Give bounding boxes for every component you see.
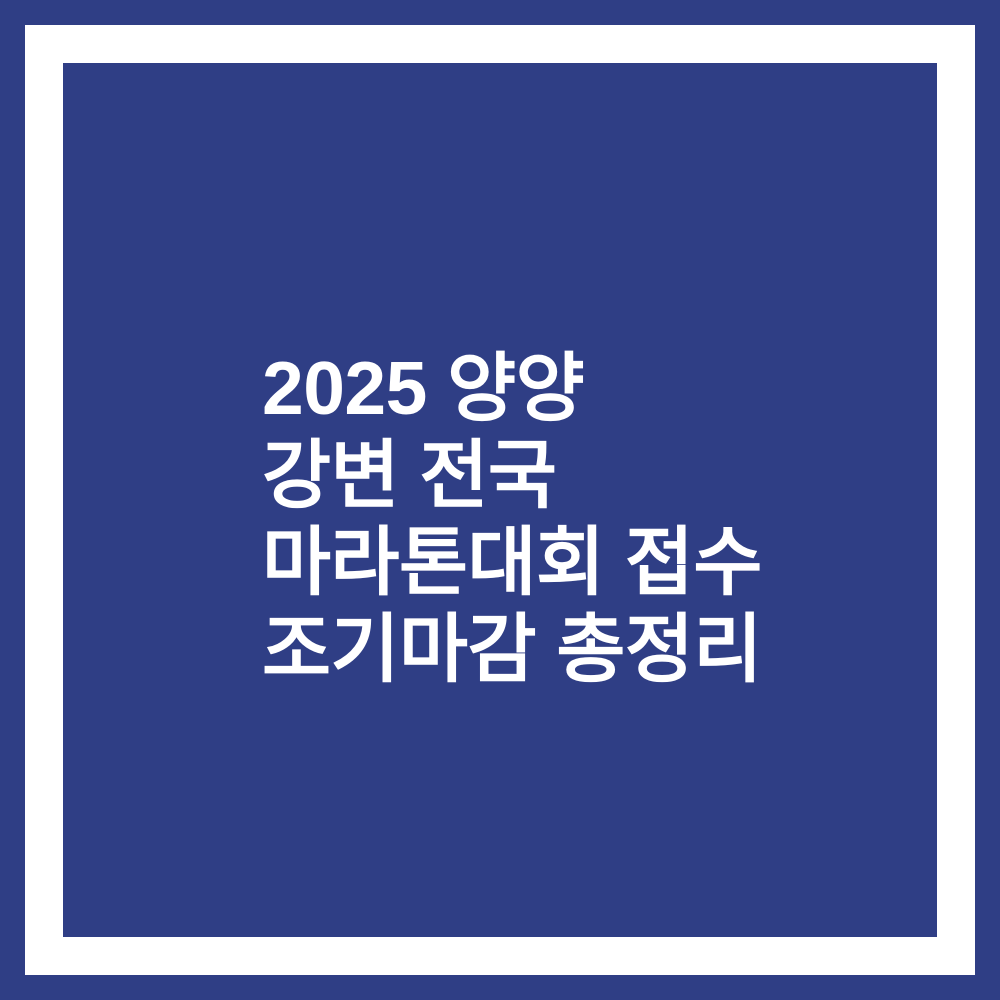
headline-line-2: 강변 전국 bbox=[262, 432, 937, 519]
thumbnail-inner-panel: 2025 양양 강변 전국 마라톤대회 접수 조기마감 총정리 bbox=[63, 63, 937, 937]
headline-block: 2025 양양 강변 전국 마라톤대회 접수 조기마감 총정리 bbox=[262, 345, 937, 693]
headline-line-1: 2025 양양 bbox=[262, 345, 937, 432]
headline-line-3: 마라톤대회 접수 bbox=[262, 519, 937, 606]
thumbnail-card: 2025 양양 강변 전국 마라톤대회 접수 조기마감 총정리 bbox=[0, 0, 1000, 1000]
headline-line-4: 조기마감 총정리 bbox=[262, 606, 937, 693]
white-inset-frame: 2025 양양 강변 전국 마라톤대회 접수 조기마감 총정리 bbox=[25, 25, 975, 975]
